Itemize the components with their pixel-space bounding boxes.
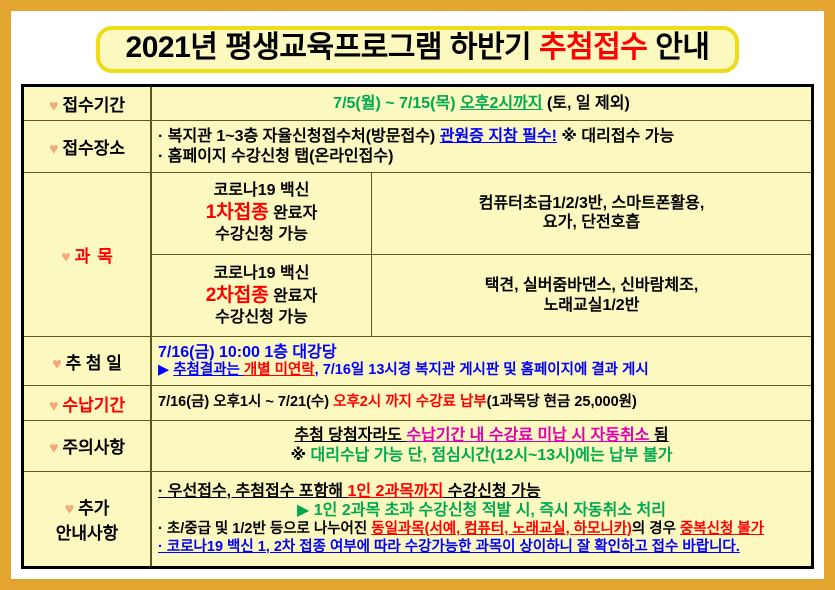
row-label-subjects: ♥과목 — [23, 172, 152, 336]
dose1-completed: 완료자 — [269, 205, 318, 222]
extra-priority-prefix: · 우선접수, 추첨접수 포함해 — [158, 483, 347, 500]
caution-line1: 추첨 당첨자라도 수납기간 내 수강료 미납 시 자동취소 됨 — [158, 426, 805, 446]
heart-icon: ♥ — [49, 440, 59, 457]
table-row-subjects-dose1: ♥과목 코로나19 백신 1차접종 완료자 수강신청 가능 컴퓨터초급1/2/3… — [23, 172, 813, 254]
table-row-caution: ♥주의사항 추첨 당첨자라도 수납기간 내 수강료 미납 시 자동취소 됨 ※ … — [23, 420, 813, 471]
dose2-list-line1: 택견, 실버줌바댄스, 신바람체조, — [378, 276, 805, 296]
dose1-cond-line2: 1차접종 완료자 — [156, 201, 367, 225]
row-label-period: ♥접수기간 — [23, 86, 152, 121]
draw-result-prefix: 추첨결과는 — [173, 362, 244, 378]
page-title: 2021년 평생교육프로그램 하반기 추첨접수 안내 — [126, 31, 710, 64]
payment-range: 7/16(금) 오후1시 ~ 7/21(수) — [158, 394, 333, 410]
extra-over-limit-warning: ▶ 1인 2과목 초과 수강신청 적발 시, 즉시 자동취소 처리 — [297, 502, 666, 519]
row-label-extra-line1-wrap: ♥추가 — [28, 494, 146, 519]
title-area: 2021년 평생교육프로그램 하반기 추첨접수 안내 — [21, 18, 814, 80]
dose2-cond-line1: 코로나19 백신 — [156, 264, 367, 284]
row-label-subjects-text-a: 과 — [75, 247, 98, 266]
extra-duplicate-not-allowed: 중복신청 불가 — [680, 521, 764, 537]
place-proxy-note: ※ 대리접수 가능 — [557, 128, 674, 145]
place-line1: · 복지관 1~3층 자율신청접수처(방문접수) 관원증 지참 필수! ※ 대리… — [158, 127, 805, 147]
extra-line1: · 우선접수, 추첨접수 포함해 1인 2과목까지 수강신청 가능 — [158, 482, 805, 502]
dose1-label: 1차접종 — [206, 202, 269, 223]
dose1-cond-line3: 수강신청 가능 — [156, 225, 367, 245]
row-value-period: 7/5(월) ~ 7/15(목) 오후2시까지 (토, 일 제외) — [151, 86, 813, 121]
info-table: ♥접수기간 7/5(월) ~ 7/15(목) 오후2시까지 (토, 일 제외) … — [21, 84, 814, 569]
draw-result-posting: , 7/16일 13시경 복지관 게시판 및 홈페이지에 결과 게시 — [315, 362, 649, 378]
extra-vaccine-note: · 코로나19 백신 1, 2차 접종 여부에 따라 수강가능한 과목이 상이하… — [158, 539, 740, 555]
row-label-payment-text: 수납기간 — [62, 396, 125, 415]
row-label-extra: ♥추가 안내사항 — [23, 472, 152, 568]
title-highlight: 추첨접수 — [539, 31, 647, 64]
row-label-extra-line2: 안내사항 — [56, 524, 119, 543]
subject-list-dose2: 택견, 실버줌바댄스, 신바람체조, 노래교실1/2반 — [372, 255, 813, 337]
dose2-cond-line2: 2차접종 완료자 — [156, 284, 367, 308]
reference-icon: ※ — [291, 447, 311, 464]
extra-case-text: 의 경우 — [632, 521, 680, 537]
heart-icon: ♥ — [65, 501, 75, 518]
place-offline: · 복지관 1~3층 자율신청접수처(방문접수) — [158, 128, 440, 145]
extra-two-course-limit: 1인 2과목까지 — [347, 483, 443, 500]
row-value-caution: 추첨 당첨자라도 수납기간 내 수강료 미납 시 자동취소 됨 ※ 대리수납 가… — [151, 420, 813, 471]
caution-suffix: 됨 — [649, 427, 668, 444]
subject-condition-dose1: 코로나19 백신 1차접종 완료자 수강신청 가능 — [151, 172, 372, 254]
row-label-period-text: 접수기간 — [62, 96, 125, 115]
row-label-draw-day-text: 추 첨 일 — [66, 354, 122, 373]
dose2-cond-line3: 수강신청 가능 — [156, 308, 367, 328]
subject-condition-dose2: 코로나19 백신 2차접종 완료자 수강신청 가능 — [151, 255, 372, 337]
dose1-cond-line1: 코로나19 백신 — [156, 181, 367, 201]
heart-icon: ♥ — [61, 249, 71, 266]
heart-icon: ♥ — [49, 398, 59, 415]
table-row-extra: ♥추가 안내사항 · 우선접수, 추첨접수 포함해 1인 2과목까지 수강신청 … — [23, 472, 813, 568]
dose2-label: 2차접종 — [206, 285, 269, 306]
dose2-completed: 완료자 — [269, 288, 318, 305]
row-value-payment: 7/16(금) 오후1시 ~ 7/21(수) 오후2시 까지 수강료 납부(1과… — [151, 386, 813, 420]
period-note: (토, 일 제외) — [543, 95, 630, 112]
caution-proxy-payment: 대리수납 가능 단, 점심시간(12시~13시)에는 납부 불가 — [311, 447, 673, 464]
row-value-extra: · 우선접수, 추첨접수 포함해 1인 2과목까지 수강신청 가능 ▶ 1인 2… — [151, 472, 813, 568]
caution-auto-cancel: 수납기간 내 수강료 미납 시 자동취소 — [406, 427, 649, 444]
triangle-icon: ▶ — [158, 362, 173, 378]
subject-list-dose1: 컴퓨터초급1/2/3반, 스마트폰활용, 요가, 단전호흡 — [372, 172, 813, 254]
period-dates: 7/5(월) ~ 7/15(목) — [333, 95, 460, 112]
payment-deadline: 오후2시 까지 수강료 납부 — [333, 394, 487, 410]
payment-fee: (1과목당 현금 25,000원) — [487, 394, 637, 410]
dose2-list-line2: 노래교실1/2반 — [378, 296, 805, 316]
draw-no-individual-contact: 개별 미연락 — [244, 362, 315, 378]
extra-line2: ▶ 1인 2과목 초과 수강신청 적발 시, 즉시 자동취소 처리 — [158, 501, 805, 521]
row-label-caution: ♥주의사항 — [23, 420, 152, 471]
period-line1: 7/5(월) ~ 7/15(목) 오후2시까지 (토, 일 제외) — [158, 94, 805, 114]
poster-inner: 2021년 평생교육프로그램 하반기 추첨접수 안내 ♥접수기간 7/5(월) … — [11, 11, 824, 579]
dose1-list-line2: 요가, 단전호흡 — [378, 213, 805, 233]
extra-line3: · 초/중급 및 1/2반 등으로 나누어진 동일과목(서예, 컴퓨터, 노래교… — [158, 521, 805, 539]
row-label-caution-text: 주의사항 — [62, 438, 125, 457]
draw-datetime: 7/16(금) 10:00 1층 대강당 — [158, 344, 337, 361]
extra-apply-allowed: 수강신청 가능 — [443, 483, 540, 500]
row-label-subjects-text-b: 목 — [97, 247, 113, 266]
draw-line1: 7/16(금) 10:00 1층 대강당 — [158, 343, 805, 363]
place-id-required: 관원증 지참 필수! — [440, 128, 557, 145]
table-row-place: ♥접수장소 · 복지관 1~3층 자율신청접수처(방문접수) 관원증 지참 필수… — [23, 121, 813, 172]
place-line2: · 홈페이지 수강신청 탭(온라인접수) — [158, 147, 805, 167]
row-label-extra-line2-wrap: 안내사항 — [28, 519, 146, 544]
place-online: · 홈페이지 수강신청 탭(온라인접수) — [158, 148, 393, 165]
heart-icon: ♥ — [52, 356, 62, 373]
heart-icon: ♥ — [49, 141, 59, 158]
row-value-place: · 복지관 1~3층 자율신청접수처(방문접수) 관원증 지참 필수! ※ 대리… — [151, 121, 813, 172]
poster-frame: 2021년 평생교육프로그램 하반기 추첨접수 안내 ♥접수기간 7/5(월) … — [0, 0, 835, 590]
row-label-place-text: 접수장소 — [62, 139, 125, 158]
caution-winner-prefix: 추첨 당첨자라도 — [294, 427, 406, 444]
extra-line4: · 코로나19 백신 1, 2차 접종 여부에 따라 수강가능한 과목이 상이하… — [158, 539, 805, 557]
title-part2: 안내 — [647, 31, 709, 64]
period-deadline: 오후2시까지 — [460, 95, 543, 112]
table-row-payment: ♥수납기간 7/16(금) 오후1시 ~ 7/21(수) 오후2시 까지 수강료… — [23, 386, 813, 420]
row-label-draw-day: ♥추 첨 일 — [23, 337, 152, 386]
table-row-draw-day: ♥추 첨 일 7/16(금) 10:00 1층 대강당 ▶ 추첨결과는 개별 미… — [23, 337, 813, 386]
draw-line2: ▶ 추첨결과는 개별 미연락, 7/16일 13시경 복지관 게시판 및 홈페이… — [158, 362, 805, 380]
row-label-payment: ♥수납기간 — [23, 386, 152, 420]
extra-same-course-list: 동일과목(서예, 컴퓨터, 노래교실, 하모니카) — [371, 521, 632, 537]
row-label-place: ♥접수장소 — [23, 121, 152, 172]
extra-level-prefix: · 초/중급 및 1/2반 등으로 나누어진 — [158, 521, 371, 537]
row-value-draw-day: 7/16(금) 10:00 1층 대강당 ▶ 추첨결과는 개별 미연락, 7/1… — [151, 337, 813, 386]
title-part1: 2021년 평생교육프로그램 하반기 — [126, 31, 539, 64]
title-box: 2021년 평생교육프로그램 하반기 추첨접수 안내 — [96, 26, 740, 73]
dose1-list-line1: 컴퓨터초급1/2/3반, 스마트폰활용, — [378, 194, 805, 214]
row-label-extra-line1: 추가 — [78, 499, 109, 518]
heart-icon: ♥ — [49, 98, 59, 115]
payment-line1: 7/16(금) 오후1시 ~ 7/21(수) 오후2시 까지 수강료 납부(1과… — [158, 394, 805, 412]
table-row-period: ♥접수기간 7/5(월) ~ 7/15(목) 오후2시까지 (토, 일 제외) — [23, 86, 813, 121]
caution-line2: ※ 대리수납 가능 단, 점심시간(12시~13시)에는 납부 불가 — [158, 446, 805, 466]
